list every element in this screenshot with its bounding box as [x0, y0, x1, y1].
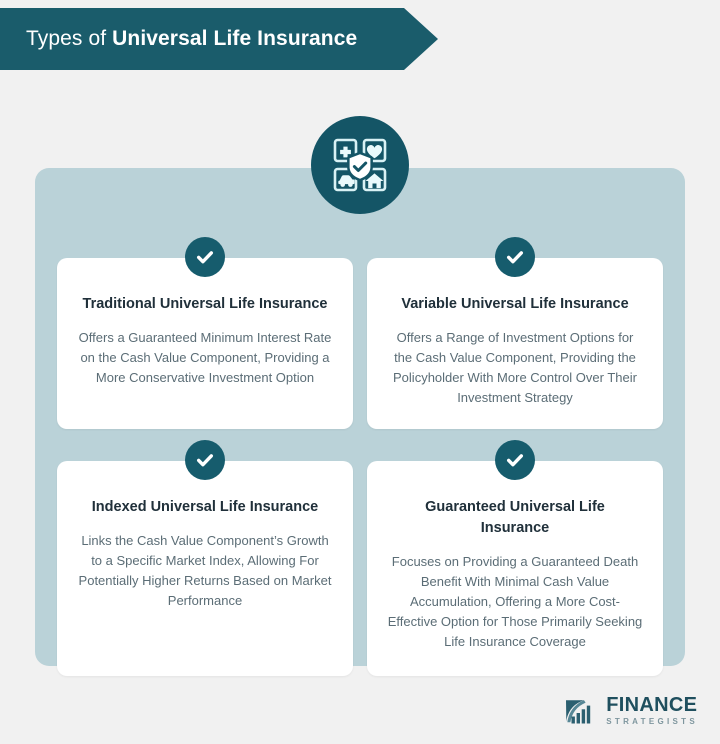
card-title: Indexed Universal Life Insurance — [75, 497, 335, 518]
page-title-light: Types of — [26, 27, 112, 50]
logo-name: FINANCE — [606, 695, 698, 715]
logo-text: FINANCE STRATEGISTS — [606, 695, 698, 726]
brand-logo[interactable]: FINANCE STRATEGISTS — [565, 695, 698, 726]
card-title: Guaranteed Universal Life Insurance — [385, 497, 645, 539]
finance-strategists-chart-icon — [565, 697, 599, 725]
check-circle-icon — [495, 440, 535, 480]
check-circle-icon — [185, 237, 225, 277]
card-grid: Traditional Universal Life Insurance Off… — [57, 258, 663, 676]
check-circle-icon — [495, 237, 535, 277]
insurance-type-card[interactable]: Variable Universal Life Insurance Offers… — [367, 258, 663, 429]
header-banner: Types of Universal Life Insurance — [0, 8, 438, 70]
shield-check-icon — [350, 154, 371, 179]
card-title: Traditional Universal Life Insurance — [75, 294, 335, 315]
logo-subtitle: STRATEGISTS — [606, 718, 698, 726]
check-circle-icon — [185, 440, 225, 480]
card-body: Links the Cash Value Component’s Growth … — [75, 531, 335, 612]
page-title: Types of Universal Life Insurance — [0, 27, 357, 51]
card-body: Offers a Guaranteed Minimum Interest Rat… — [75, 328, 335, 388]
card-body: Focuses on Providing a Guaranteed Death … — [385, 552, 645, 653]
card-title: Variable Universal Life Insurance — [385, 294, 645, 315]
insurance-grid-shield-icon — [331, 136, 389, 194]
page-title-bold: Universal Life Insurance — [112, 27, 357, 50]
card-body: Offers a Range of Investment Options for… — [385, 328, 645, 409]
hero-icon-circle — [311, 116, 409, 214]
insurance-type-card[interactable]: Traditional Universal Life Insurance Off… — [57, 258, 353, 429]
insurance-type-card[interactable]: Guaranteed Universal Life Insurance Focu… — [367, 461, 663, 677]
insurance-type-card[interactable]: Indexed Universal Life Insurance Links t… — [57, 461, 353, 677]
